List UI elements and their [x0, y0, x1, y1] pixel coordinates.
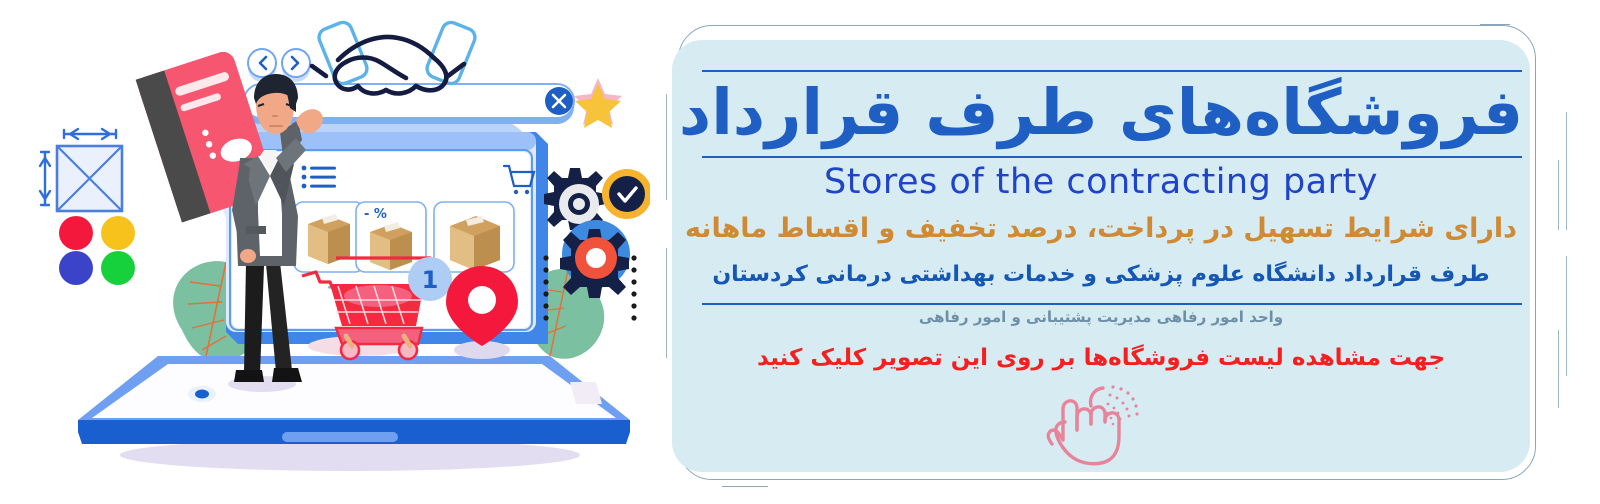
- subtitle-benefits: دارای شرایط تسهیل در پرداخت، درصد تخفیف …: [672, 213, 1530, 244]
- panel-content: فروشگاه‌های طرف قرارداد Stores of the co…: [672, 40, 1530, 472]
- dot-green: [101, 251, 135, 285]
- tap-hand-cursor[interactable]: [1039, 382, 1163, 468]
- tap-hand-icon: [1039, 382, 1163, 468]
- accent-line-right-lower: [1566, 256, 1567, 376]
- call-to-action-text[interactable]: جهت مشاهده لیست فروشگاه‌ها بر روی این تص…: [672, 345, 1530, 371]
- subtitle-organization: طرف قرارداد دانشگاه علوم پزشکی و خدمات ب…: [672, 262, 1530, 287]
- accent-line-right-upper: [1566, 112, 1567, 230]
- ecommerce-illustration[interactable]: - %: [30, 0, 650, 500]
- subtitle-department: واحد امور رفاهی مدیریت پشتیبانی و امور ر…: [672, 308, 1530, 326]
- accent-line-right-lower-inner: [1558, 330, 1559, 408]
- divider-lower: [702, 303, 1522, 305]
- dot-yellow: [101, 216, 135, 250]
- color-swatch-dots: [59, 216, 135, 285]
- dot-red: [59, 216, 93, 250]
- star-icon: [574, 78, 622, 128]
- gear-icon-orange: [560, 220, 630, 298]
- banner-root: - %: [0, 0, 1600, 500]
- dot-blue: [59, 251, 93, 285]
- tablet-device: [78, 356, 630, 471]
- close-circle-icon[interactable]: [545, 87, 573, 115]
- accent-line-left-lower: [666, 248, 667, 358]
- map-pin-icon: [446, 266, 518, 359]
- check-circle-icon: [602, 169, 650, 219]
- accent-line-left-upper: [666, 94, 667, 200]
- cart-badge-label: 1: [422, 266, 439, 294]
- cart-quantity-badge: 1: [408, 257, 452, 301]
- product-card-1[interactable]: [294, 202, 364, 272]
- accent-rule-top-right: [1480, 24, 1510, 25]
- handshake-icon: [312, 20, 478, 94]
- crop-frame-icon: [40, 129, 122, 211]
- discount-tag-label: - %: [364, 207, 387, 222]
- accent-line-right-inner: [1558, 160, 1559, 230]
- divider-top: [702, 70, 1522, 72]
- divider-middle: [702, 156, 1522, 158]
- accent-rule-bottom-left: [722, 486, 768, 487]
- illustration-svg: - %: [30, 0, 650, 500]
- page-title-fa: فروشگاه‌های طرف قرارداد: [672, 74, 1530, 152]
- page-title-en: Stores of the contracting party: [672, 162, 1530, 202]
- product-card-2[interactable]: - %: [356, 202, 426, 272]
- product-card-3[interactable]: [434, 202, 514, 272]
